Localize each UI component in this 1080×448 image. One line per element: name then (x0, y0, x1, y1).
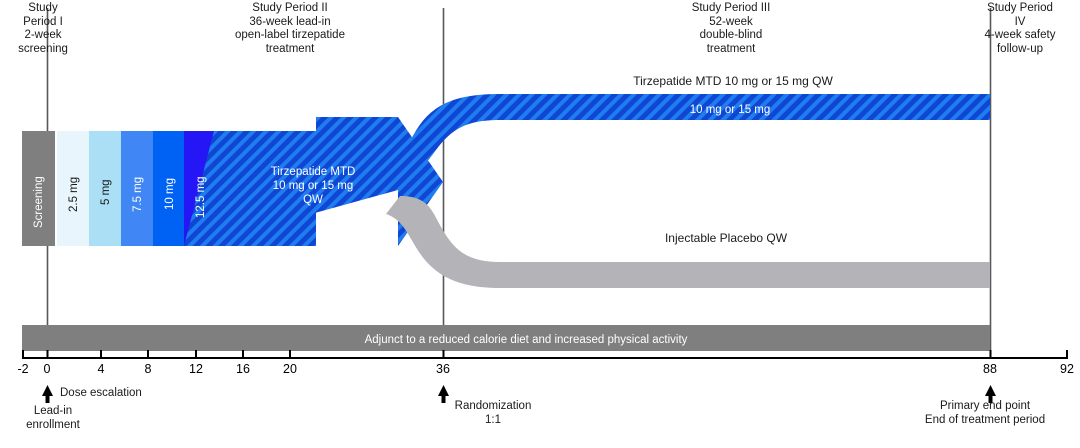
arrow-lead-in-enrollment (42, 385, 53, 403)
period-header-4: Study Period IV 4-week safety follow-up (960, 2, 1080, 56)
tirzepatide-arm-inband-label: 10 mg or 15 mg (570, 104, 890, 116)
placebo-arm-caption: Injectable Placebo QW (576, 231, 876, 245)
tick-label-0: 0 (27, 362, 67, 376)
tick-label-92: 92 (1047, 362, 1080, 376)
annotation-randomization: Randomization 1:1 (383, 400, 603, 427)
annotation-lead-in-enrollment: Lead-in enrollment (0, 405, 113, 432)
diagram-canvas (0, 0, 1080, 448)
tick-label-20: 20 (270, 362, 310, 376)
dose-label-10mg: 10 mg (164, 178, 176, 210)
period-header-3: Study Period III 52-week double-blind tr… (608, 2, 854, 56)
tick-label-36: 36 (423, 362, 463, 376)
dose-label-2-5mg: 2.5 mg (68, 177, 80, 212)
tick-label-4: 4 (81, 362, 121, 376)
period-header-1: Study Period I 2-week screening (0, 2, 86, 56)
dose-label-5mg: 5 mg (100, 179, 112, 205)
tirzepatide-arm-caption: Tirzepatide MTD 10 mg or 15 mg QW (528, 74, 938, 88)
adjunct-bar-label: Adjunct to a reduced calorie diet and in… (62, 334, 990, 346)
dose-label-12-5mg: 12.5 mg (195, 176, 207, 218)
tick-label-12: 12 (176, 362, 216, 376)
annotation-primary-endpoint: Primary end point End of treatment perio… (885, 400, 1080, 427)
study-design-figure: Study Period I 2-week screening Study Pe… (0, 0, 1080, 448)
period-header-2: Study Period II 36-week lead-in open-lab… (172, 2, 408, 56)
screening-label: Screening (33, 176, 45, 228)
tick-label-16: 16 (223, 362, 263, 376)
dose-escalation-caption: Dose escalation (60, 387, 240, 401)
arrow-label: Tirzepatide MTD 10 mg or 15 mg QW (228, 165, 398, 207)
dose-label-7-5mg: 7.5 mg (132, 177, 144, 212)
tick-label-88: 88 (970, 362, 1010, 376)
tick-label-8: 8 (128, 362, 168, 376)
